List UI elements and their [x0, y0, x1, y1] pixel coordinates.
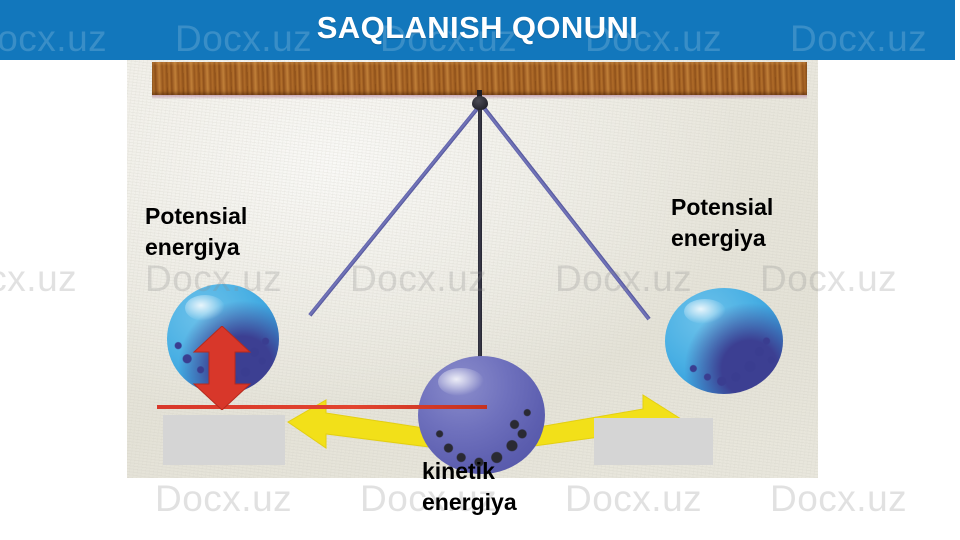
watermark-text: Docx.uz — [0, 258, 77, 300]
watermark-text: Docx.uz — [155, 478, 292, 520]
label-potential-energy-right: Potensial energiya — [671, 192, 773, 253]
height-double-arrow-icon — [191, 326, 253, 410]
redaction-box-left — [163, 415, 285, 465]
pendulum-string-center — [478, 104, 482, 367]
watermark-text: Docx.uz — [770, 478, 907, 520]
diagram-panel — [127, 60, 818, 478]
ball-right-potential — [665, 288, 783, 394]
redaction-box-right — [594, 418, 713, 465]
label-kinetic-energy: kinetik energiya — [422, 456, 517, 517]
ball-center-highlight — [438, 368, 484, 396]
page-title: SAQLANISH QONUNI — [0, 0, 955, 60]
label-potential-energy-left: Potensial energiya — [145, 201, 247, 262]
watermark-text: Docx.uz — [565, 478, 702, 520]
ball-right-highlight — [684, 299, 726, 324]
ball-right-shading — [665, 288, 783, 394]
slide-root: Potensial energiya Potensial energiya ki… — [0, 0, 960, 540]
swing-arrow-left-icon — [282, 390, 437, 458]
pivot-knob — [472, 96, 488, 110]
